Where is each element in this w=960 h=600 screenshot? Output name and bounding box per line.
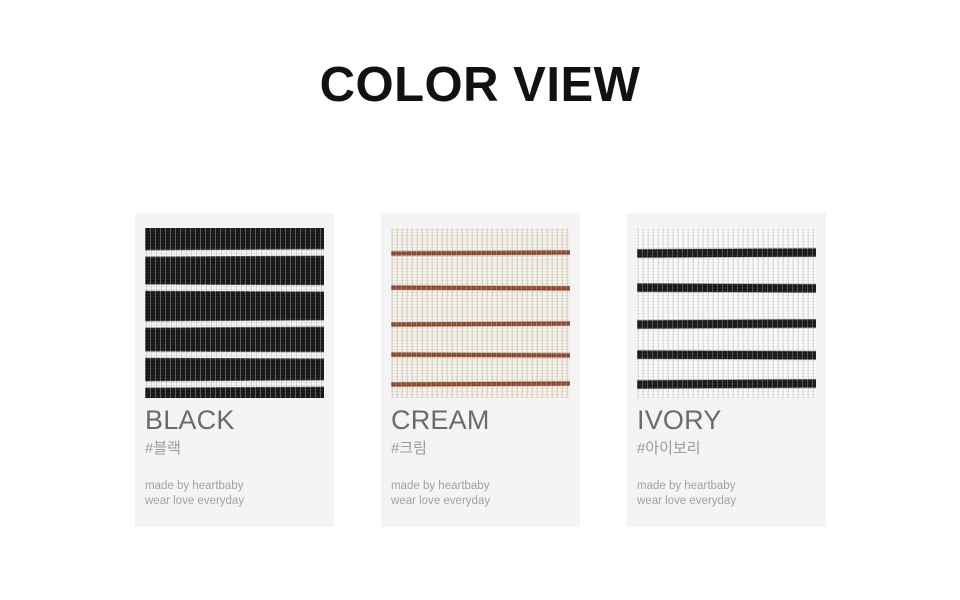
color-name-korean: #크림	[391, 438, 570, 460]
fabric-swatch-black	[145, 228, 324, 398]
color-card-black[interactable]: BLACK #블랙 made by heartbaby wear love ev…	[135, 213, 334, 527]
color-card-text: CREAM #크림 made by heartbaby wear love ev…	[391, 405, 570, 509]
color-card-text: BLACK #블랙 made by heartbaby wear love ev…	[145, 405, 324, 509]
card-note: made by heartbaby wear love everyday	[391, 479, 570, 509]
color-card-cream[interactable]: CREAM #크림 made by heartbaby wear love ev…	[381, 213, 580, 527]
card-note-line2: wear love everyday	[145, 494, 324, 509]
card-note-line1: made by heartbaby	[391, 479, 570, 494]
card-note-line1: made by heartbaby	[637, 479, 816, 494]
card-note: made by heartbaby wear love everyday	[637, 479, 816, 509]
knit-grain	[391, 228, 570, 398]
color-name-korean: #아이보리	[637, 438, 816, 460]
color-card-list: BLACK #블랙 made by heartbaby wear love ev…	[135, 213, 826, 527]
color-name: BLACK	[145, 405, 324, 435]
color-name-korean: #블랙	[145, 438, 324, 460]
knit-grain	[145, 228, 324, 398]
fabric-swatch-cream	[391, 228, 570, 398]
knit-grain	[637, 228, 816, 398]
color-card-text: IVORY #아이보리 made by heartbaby wear love …	[637, 405, 816, 509]
card-note-line2: wear love everyday	[391, 494, 570, 509]
color-card-ivory[interactable]: IVORY #아이보리 made by heartbaby wear love …	[627, 213, 826, 527]
color-name: CREAM	[391, 405, 570, 435]
card-note-line2: wear love everyday	[637, 494, 816, 509]
page-title: COLOR VIEW	[0, 55, 960, 115]
card-note-line1: made by heartbaby	[145, 479, 324, 494]
fabric-swatch-ivory	[637, 228, 816, 398]
card-note: made by heartbaby wear love everyday	[145, 479, 324, 509]
color-name: IVORY	[637, 405, 816, 435]
